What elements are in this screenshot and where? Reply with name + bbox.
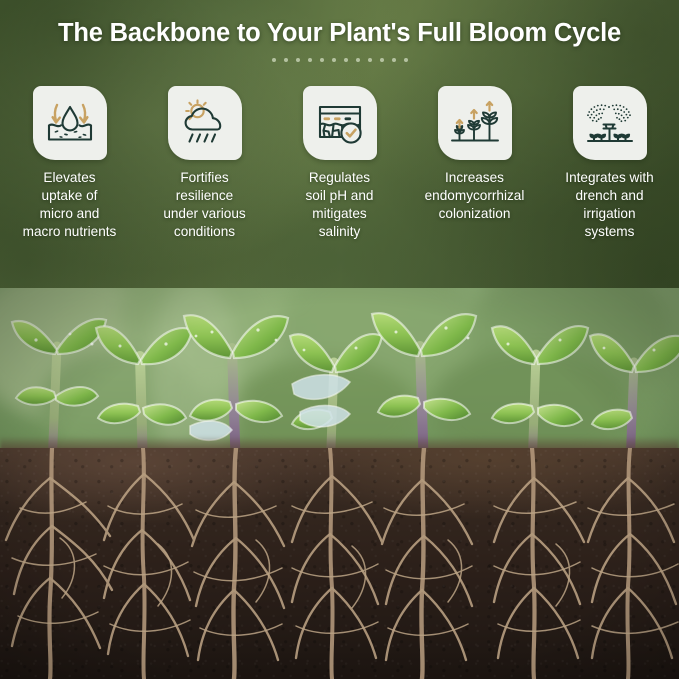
page-title: The Backbone to Your Plant's Full Bloom … [0,19,679,48]
divider-dot [272,58,276,62]
divider-dot [344,58,348,62]
water-absorption-soil-icon [33,86,107,160]
feature-item-2: Regulates soil pH and mitigates salinity [272,86,407,241]
divider-dot [380,58,384,62]
promo-banner: The Backbone to Your Plant's Full Bloom … [0,0,679,679]
dot-divider [0,58,679,62]
sprinkler-irrigation-icon [573,86,647,160]
divider-dot [320,58,324,62]
sun-rain-cloud-icon [168,86,242,160]
root-network [0,448,679,679]
feature-label: Integrates with drench and irrigation sy… [544,169,676,241]
divider-dot [296,58,300,62]
feature-label: Fortifies resilience under various condi… [139,169,271,241]
seedling-soil-photo [0,288,679,679]
soil-ph-check-icon [303,86,377,160]
divider-dot [332,58,336,62]
feature-label: Elevates uptake of micro and macro nutri… [4,169,136,241]
feature-list: Elevates uptake of micro and macro nutri… [0,86,679,241]
feature-item-1: Fortifies resilience under various condi… [137,86,272,241]
feature-label: Increases endomycorrhizal colonization [409,169,541,223]
divider-dot [356,58,360,62]
feature-item-0: Elevates uptake of micro and macro nutri… [2,86,137,241]
divider-dot [308,58,312,62]
divider-dot [404,58,408,62]
divider-dot [368,58,372,62]
feature-label: Regulates soil pH and mitigates salinity [274,169,406,241]
divider-dot [284,58,288,62]
feature-item-3: Increases endomycorrhizal colonization [407,86,542,223]
feature-item-4: Integrates with drench and irrigation sy… [542,86,677,241]
divider-dot [392,58,396,62]
growing-plants-arrows-icon [438,86,512,160]
